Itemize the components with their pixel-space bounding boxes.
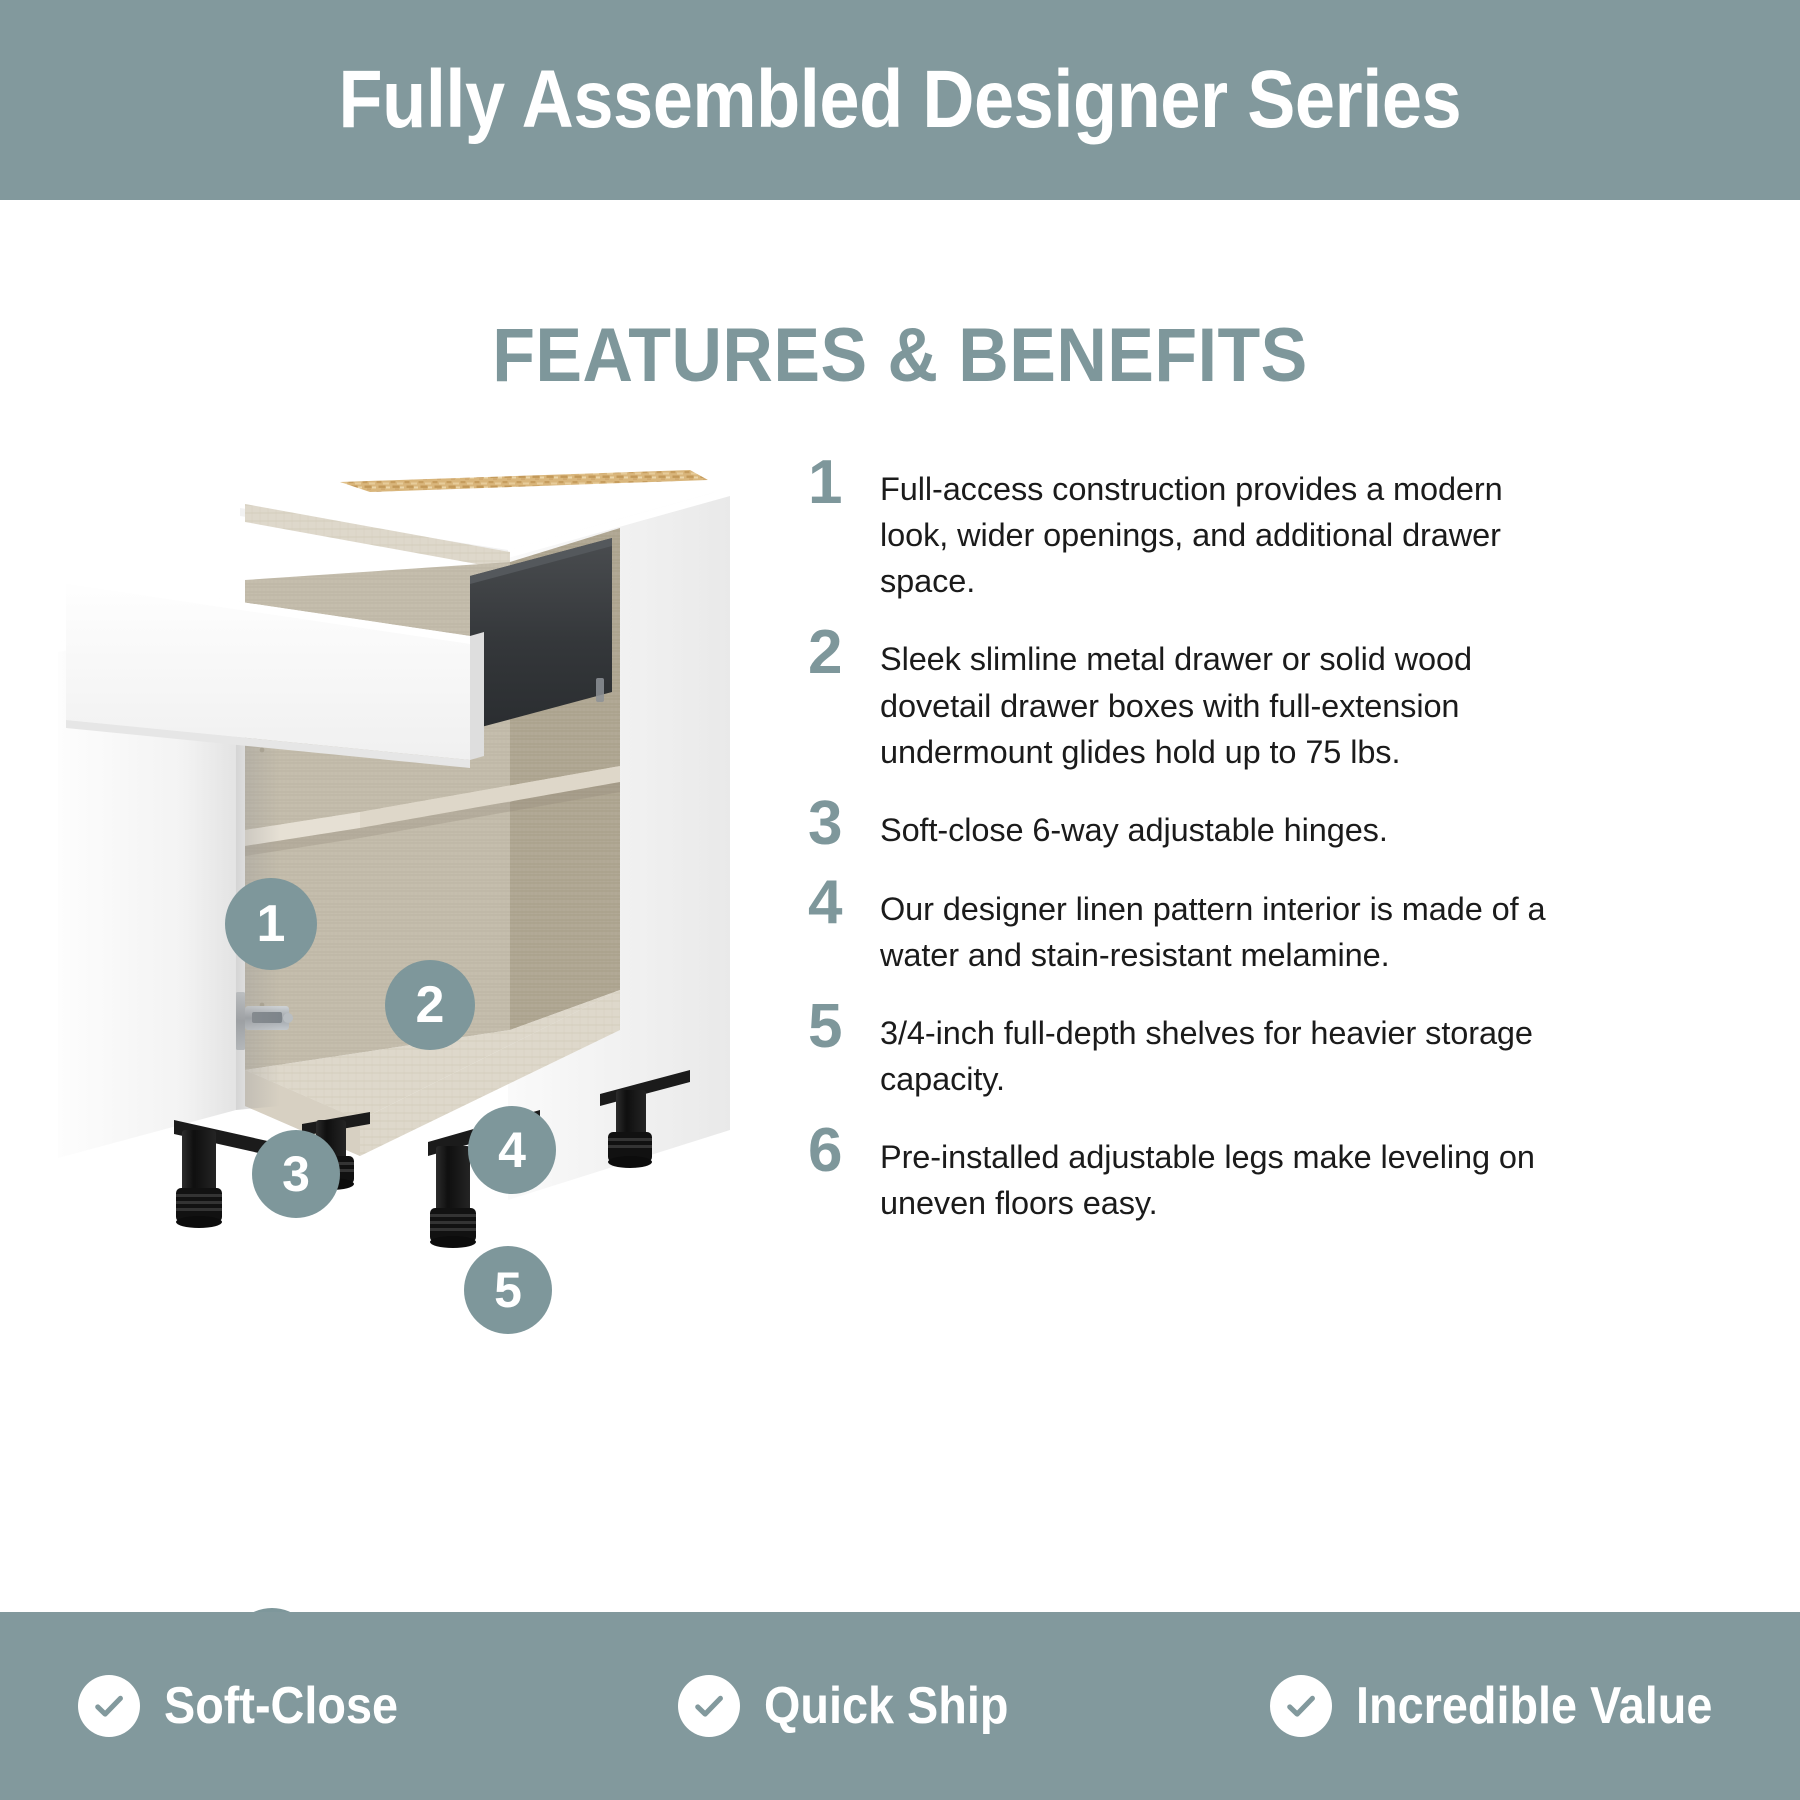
footer-bar: Soft-Close Quick Ship Incredible Value [0,1612,1800,1800]
feature-number-6: 6 [808,1120,880,1181]
cabinet-illustration: 1 2 3 4 5 6 [40,430,800,1370]
check-circle-icon [1270,1675,1332,1737]
feature-item-4: 4 Our designer linen pattern interior is… [808,872,1548,978]
callout-badge-1[interactable]: 1 [225,878,317,970]
feature-text-4: Our designer linen pattern interior is m… [880,872,1548,978]
callout-badge-2[interactable]: 2 [385,960,475,1050]
infographic-page: Fully Assembled Designer Series FEATURES… [0,0,1800,1800]
feature-number-1: 1 [808,452,880,513]
feature-number-2: 2 [808,622,880,683]
feature-text-1: Full-access construction provides a mode… [880,452,1548,604]
feature-number-5: 5 [808,996,880,1057]
footer-label-soft-close: Soft-Close [164,1680,398,1732]
feature-number-3: 3 [808,793,880,854]
feature-text-6: Pre-installed adjustable legs make level… [880,1120,1548,1226]
feature-item-2: 2 Sleek slimline metal drawer or solid w… [808,622,1548,774]
section-title: FEATURES & BENEFITS [72,318,1728,394]
callout-badge-4[interactable]: 4 [468,1106,556,1194]
feature-item-5: 5 3/4-inch full-depth shelves for heavie… [808,996,1548,1102]
check-circle-icon [678,1675,740,1737]
feature-item-1: 1 Full-access construction provides a mo… [808,452,1548,604]
footer-badge-incredible-value: Incredible Value [1208,1675,1800,1737]
feature-text-5: 3/4-inch full-depth shelves for heavier … [880,996,1548,1102]
header-bar: Fully Assembled Designer Series [0,0,1800,200]
callout-badge-3[interactable]: 3 [252,1130,340,1218]
feature-number-4: 4 [808,872,880,933]
check-circle-icon [78,1675,140,1737]
feature-text-3: Soft-close 6-way adjustable hinges. [880,793,1548,853]
page-title: Fully Assembled Designer Series [339,59,1462,141]
features-list: 1 Full-access construction provides a mo… [808,452,1548,1245]
footer-badge-soft-close: Soft-Close [0,1675,608,1737]
footer-badge-quick-ship: Quick Ship [608,1675,1208,1737]
callout-badge-5[interactable]: 5 [464,1246,552,1334]
feature-text-2: Sleek slimline metal drawer or solid woo… [880,622,1548,774]
footer-label-quick-ship: Quick Ship [764,1680,1008,1732]
feature-item-6: 6 Pre-installed adjustable legs make lev… [808,1120,1548,1226]
footer-label-incredible-value: Incredible Value [1356,1680,1712,1732]
feature-item-3: 3 Soft-close 6-way adjustable hinges. [808,793,1548,854]
